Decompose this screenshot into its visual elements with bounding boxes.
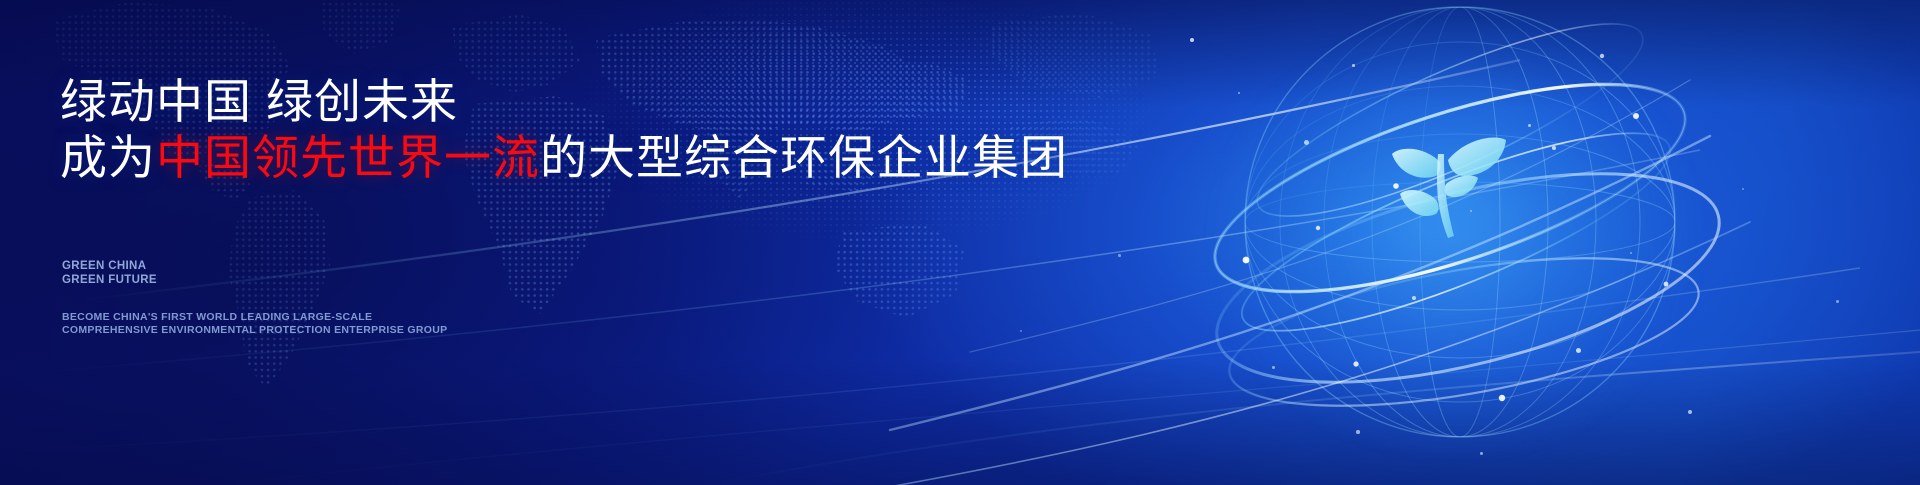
description-english: BECOME CHINA'S FIRST WORLD LEADING LARGE…	[62, 311, 447, 336]
subtitle-line-2: GREEN FUTURE	[62, 274, 157, 288]
subtitle-line-1: GREEN CHINA	[62, 260, 157, 274]
headline-suffix: 的大型综合环保企业集团	[540, 131, 1068, 184]
headline-highlight: 中国领先世界一流	[156, 131, 540, 184]
description-line-1: BECOME CHINA'S FIRST WORLD LEADING LARGE…	[62, 311, 447, 324]
headline-line-2: 成为中国领先世界一流的大型综合环保企业集团	[60, 134, 1068, 181]
headline-prefix: 成为	[60, 131, 156, 184]
subtitle-english: GREEN CHINA GREEN FUTURE	[62, 260, 157, 287]
headline-line-1: 绿动中国 绿创未来	[60, 78, 458, 125]
description-line-2: COMPREHENSIVE ENVIRONMENTAL PROTECTION E…	[62, 324, 447, 337]
banner-text-block: 绿动中国 绿创未来 成为中国领先世界一流的大型综合环保企业集团 GREEN CH…	[60, 0, 1060, 485]
hero-banner: 绿动中国 绿创未来 成为中国领先世界一流的大型综合环保企业集团 GREEN CH…	[0, 0, 1920, 485]
green-sprout-icon	[1378, 118, 1513, 248]
